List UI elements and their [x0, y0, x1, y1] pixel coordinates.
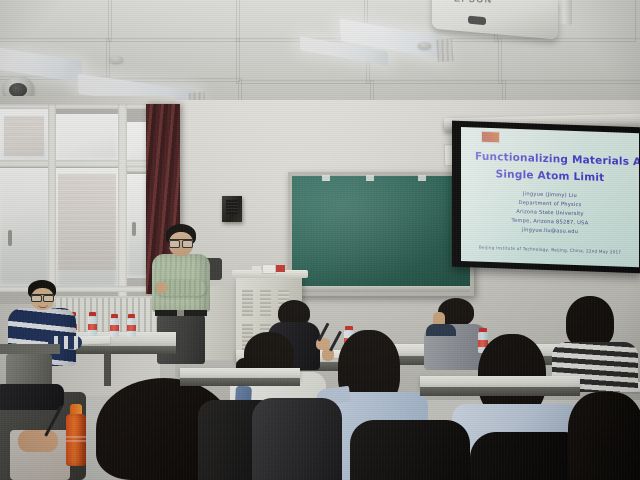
smoke-detector	[110, 56, 123, 63]
projector-brand-label: EPSON	[454, 0, 493, 5]
hand	[322, 348, 334, 361]
desk-edge	[180, 378, 300, 386]
slide-venue: Beijing Institute of Technology, Beijing…	[461, 244, 639, 255]
slide-institution: Arizona State University	[461, 207, 639, 219]
projector-mount	[556, 0, 572, 25]
desk-edge	[0, 344, 60, 354]
slide-address: Tempe, Arizona 85287, USA	[461, 216, 639, 228]
presenter-glasses	[169, 239, 193, 246]
presenter-hand	[156, 282, 168, 293]
window-handle[interactable]	[132, 222, 136, 236]
slide-email: jingyue.liu@asu.edu	[461, 225, 639, 237]
wall-speaker	[222, 196, 242, 222]
water-bottle[interactable]	[110, 314, 119, 337]
slide-surface: Functionalizing Materials At The Single …	[461, 127, 639, 267]
hand	[18, 430, 58, 452]
blackboard-eraser[interactable]	[252, 266, 261, 272]
student-foreground-right-edge	[568, 392, 640, 480]
desk-leg	[104, 352, 111, 386]
ceiling-light	[339, 19, 444, 60]
chalk-box[interactable]	[262, 264, 276, 274]
seated-man-glasses	[31, 294, 54, 300]
student-foreground-dark	[350, 420, 470, 480]
slide-logo-icon	[481, 131, 500, 144]
student-foreground-center	[252, 398, 342, 480]
slide-title-line1: Functionalizing Materials At The	[475, 150, 639, 168]
slide-department: Department of Physics	[461, 198, 639, 210]
student-striped-top	[560, 296, 624, 388]
water-bottle[interactable]	[88, 312, 97, 336]
chair[interactable]	[6, 354, 52, 388]
ceiling-light	[0, 47, 83, 83]
chalk-box-red[interactable]	[276, 265, 285, 272]
slide-title-line2: Single Atom Limit	[461, 167, 639, 185]
presenter-belt	[155, 310, 207, 316]
chalk-tray	[286, 286, 470, 292]
classroom-photo: EPSON	[0, 0, 640, 480]
slide-author: Jingyue (Jimmy) Liu	[461, 189, 639, 201]
projection-screen: Functionalizing Materials At The Single …	[452, 121, 640, 274]
chalkboard	[288, 172, 474, 296]
orange-sports-drink-bottle[interactable]	[66, 404, 86, 466]
water-bottle[interactable]	[127, 314, 136, 337]
notebook[interactable]	[80, 335, 110, 344]
window-handle[interactable]	[8, 230, 12, 246]
projector: EPSON	[432, 0, 558, 40]
projector-lens	[468, 16, 486, 26]
smoke-detector	[418, 42, 431, 49]
bag	[0, 384, 64, 410]
desk-edge	[420, 387, 580, 396]
ceiling-light	[300, 36, 389, 66]
